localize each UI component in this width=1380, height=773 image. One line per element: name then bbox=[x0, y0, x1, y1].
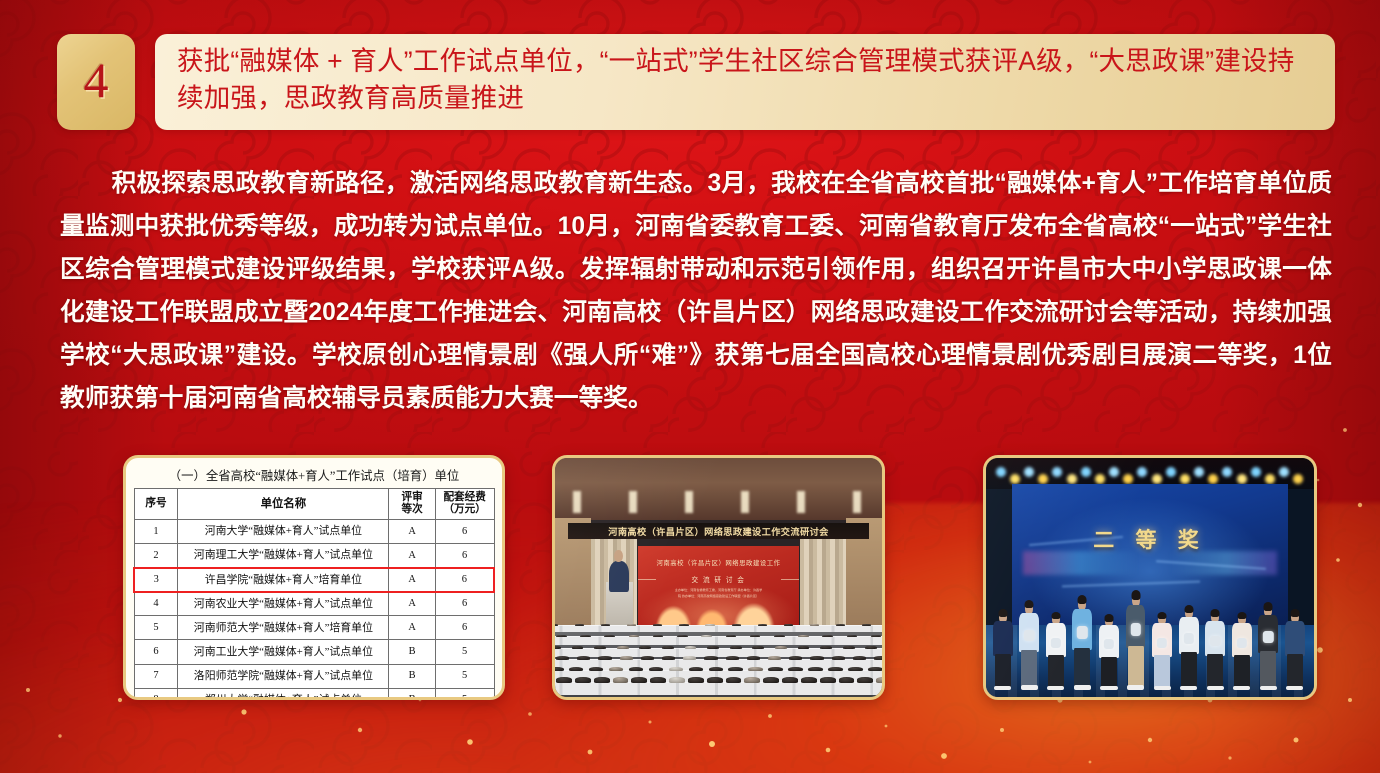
table-cell-no: 6 bbox=[134, 640, 178, 664]
ceiling-lights bbox=[555, 491, 882, 513]
person-legs bbox=[1074, 648, 1090, 687]
award-recipient bbox=[1257, 604, 1281, 690]
stage-lamp bbox=[1279, 467, 1289, 477]
stage-lamp bbox=[1109, 467, 1119, 477]
section-number: 4 bbox=[84, 55, 109, 109]
person-legs bbox=[1234, 655, 1250, 687]
person-hair bbox=[1051, 612, 1060, 620]
stage-lights bbox=[993, 465, 1308, 484]
audience-head bbox=[752, 646, 764, 649]
audience-head bbox=[707, 646, 719, 649]
award-recipient bbox=[1044, 613, 1068, 689]
stage-lamp bbox=[1293, 474, 1303, 484]
audience-head bbox=[810, 624, 819, 626]
stage-lamp bbox=[1067, 474, 1077, 484]
audience-head bbox=[577, 656, 590, 660]
audience-head bbox=[732, 624, 741, 626]
stage-lamp bbox=[1208, 474, 1218, 484]
audience-head bbox=[688, 677, 704, 682]
award-photo: 二 等 奖 bbox=[986, 458, 1314, 697]
audience-head bbox=[862, 624, 871, 626]
stage-lamp bbox=[1265, 474, 1275, 484]
audience-head bbox=[748, 667, 763, 671]
person-hair bbox=[1237, 612, 1246, 620]
person-legs bbox=[1154, 655, 1170, 687]
audience-head bbox=[730, 646, 742, 649]
audience-heads bbox=[555, 645, 882, 649]
audience-head bbox=[758, 624, 767, 626]
person-legs bbox=[1181, 652, 1197, 687]
stage-lamp bbox=[1237, 474, 1247, 484]
audience-head bbox=[808, 667, 823, 671]
audience-head bbox=[609, 667, 624, 671]
table-cell-name: 洛阳师范学院“融媒体+育人”试点单位 bbox=[178, 664, 389, 688]
person-hair bbox=[1131, 590, 1140, 600]
table-header-funding: 配套经费 （万元） bbox=[435, 489, 494, 520]
table-cell-grade: A bbox=[389, 568, 435, 592]
table-cell-grade: B bbox=[389, 688, 435, 700]
audience-heads bbox=[555, 666, 882, 671]
audience-head bbox=[836, 624, 845, 626]
audience-head bbox=[857, 677, 873, 682]
person-legs bbox=[1287, 654, 1303, 687]
person-shoes bbox=[1233, 686, 1250, 690]
units-table: 序号 单位名称 评审 等次 配套经费 （万元） 1河南大学“融媒体+育人”试点单… bbox=[133, 488, 495, 700]
audience-head bbox=[594, 646, 606, 649]
audience-head bbox=[707, 677, 723, 682]
trophy-plaque bbox=[1077, 626, 1087, 638]
audience-head bbox=[828, 667, 843, 671]
stage-screen: 河南高校（许昌片区）网络思政建设工作 交 流 研 讨 会 主办单位：河南省委教育… bbox=[638, 546, 798, 628]
audience-head bbox=[768, 656, 781, 660]
stage-lamp bbox=[1222, 467, 1232, 477]
stage-lamp bbox=[996, 467, 1006, 477]
table-cell-grade: B bbox=[389, 640, 435, 664]
audience-head bbox=[555, 667, 564, 671]
audience-head bbox=[631, 677, 647, 682]
person-shoes bbox=[1207, 686, 1224, 690]
stage-lamp bbox=[1152, 474, 1162, 484]
audience-head bbox=[589, 667, 604, 671]
table-cell-no: 4 bbox=[134, 592, 178, 616]
award-recipients-group bbox=[986, 570, 1314, 690]
audience-head bbox=[569, 667, 584, 671]
audience-head bbox=[728, 667, 743, 671]
audience-head bbox=[775, 646, 787, 649]
stage-lamp bbox=[1081, 467, 1091, 477]
trophy-plaque bbox=[1104, 639, 1114, 649]
audience-head bbox=[847, 635, 858, 637]
person-legs bbox=[995, 654, 1011, 687]
person-shoes bbox=[994, 686, 1011, 690]
audience-head bbox=[782, 677, 798, 682]
audience-head bbox=[601, 624, 610, 626]
audience-head bbox=[704, 656, 717, 660]
person-hair bbox=[1211, 609, 1220, 617]
audience-head bbox=[669, 677, 685, 682]
person-shoes bbox=[1074, 685, 1091, 690]
award-title-text: 二 等 奖 bbox=[1012, 524, 1288, 554]
person-shoes bbox=[1180, 686, 1197, 690]
audience-head bbox=[750, 635, 761, 637]
table-header-grade: 评审 等次 bbox=[389, 489, 435, 520]
audience-head bbox=[822, 635, 833, 637]
audience-head bbox=[620, 656, 633, 660]
table-cell-name: 河南师范大学“融媒体+育人”培育单位 bbox=[178, 616, 389, 640]
table-cell-name: 河南理工大学“融媒体+育人”试点单位 bbox=[178, 544, 389, 568]
table-cell-no: 8 bbox=[134, 688, 178, 700]
led-banner-text: 河南高校（许昌片区）网络思政建设工作交流研讨会 bbox=[608, 524, 829, 538]
table-cell-grade: A bbox=[389, 592, 435, 616]
conference-photo: 河南高校（许昌片区）网络思政建设工作交流研讨会 河南高校（许昌片区）网络思政建设… bbox=[555, 458, 882, 697]
audience-head bbox=[874, 656, 882, 660]
audience-head bbox=[876, 677, 882, 682]
award-recipient bbox=[1097, 616, 1121, 690]
led-banner: 河南高校（许昌片区）网络思政建设工作交流研讨会 bbox=[568, 523, 869, 540]
audience-head bbox=[788, 667, 803, 671]
audience-head bbox=[810, 656, 823, 660]
audience-head bbox=[774, 635, 785, 637]
trophy-plaque bbox=[1184, 633, 1194, 644]
person-hair bbox=[1290, 609, 1299, 617]
header-text-line1: 配套经费 bbox=[443, 492, 485, 503]
audience-heads bbox=[555, 677, 882, 683]
person-hair bbox=[1078, 595, 1087, 604]
audience-head bbox=[843, 646, 855, 649]
audience-head bbox=[649, 667, 664, 671]
section-title-bar: 获批“融媒体 + 育人”工作试点单位，“一站式”学生社区综合管理模式获评A级，“… bbox=[155, 34, 1335, 130]
audience-head bbox=[832, 656, 845, 660]
audience-head bbox=[613, 677, 629, 682]
audience-head bbox=[575, 677, 591, 682]
audience-head bbox=[839, 677, 855, 682]
person-legs bbox=[1128, 646, 1144, 687]
audience-head bbox=[868, 667, 882, 671]
audience-head bbox=[848, 667, 863, 671]
person-legs bbox=[1101, 657, 1117, 688]
audience-head bbox=[709, 667, 724, 671]
audience-head bbox=[798, 635, 809, 637]
person-shoes bbox=[1021, 685, 1038, 689]
person-legs bbox=[1260, 651, 1276, 687]
header-text-line1: 评审 bbox=[402, 492, 423, 503]
audience-head bbox=[617, 646, 629, 649]
audience-head bbox=[871, 635, 882, 637]
table-cell-funding: 5 bbox=[435, 688, 494, 700]
header-text: 单位名称 bbox=[261, 498, 307, 510]
audience-head bbox=[677, 635, 688, 637]
person-torso bbox=[1285, 621, 1305, 656]
audience-head bbox=[798, 646, 810, 649]
audience-head bbox=[820, 677, 836, 682]
table-cell-funding: 6 bbox=[435, 592, 494, 616]
audience-head bbox=[653, 635, 664, 637]
section-number-badge: 4 bbox=[57, 34, 135, 130]
award-recipient bbox=[1071, 597, 1095, 690]
stage-lamp bbox=[1194, 467, 1204, 477]
table-cell-funding: 6 bbox=[435, 520, 494, 544]
trophy-plaque bbox=[1210, 636, 1220, 646]
audience-head bbox=[580, 635, 591, 637]
audience-head bbox=[604, 635, 615, 637]
award-recipient bbox=[1177, 606, 1201, 690]
table-cell-grade: A bbox=[389, 520, 435, 544]
audience-head bbox=[701, 635, 712, 637]
table-cell-grade: A bbox=[389, 616, 435, 640]
header-text: 序号 bbox=[145, 498, 166, 509]
audience-head bbox=[662, 646, 674, 649]
table-row: 2河南理工大学“融媒体+育人”试点单位A6 bbox=[134, 544, 494, 568]
award-recipient bbox=[1283, 611, 1307, 690]
person-legs bbox=[1048, 655, 1064, 687]
seat-row bbox=[555, 625, 882, 632]
person-legs bbox=[1021, 650, 1037, 687]
audience-head bbox=[594, 677, 610, 682]
speaker-person bbox=[609, 561, 629, 592]
award-recipient bbox=[991, 611, 1015, 690]
table-row: 5河南师范大学“融媒体+育人”培育单位A6 bbox=[134, 616, 494, 640]
table-cell-name: 河南农业大学“融媒体+育人”试点单位 bbox=[178, 592, 389, 616]
table-cell-name: 河南工业大学“融媒体+育人”试点单位 bbox=[178, 640, 389, 664]
person-shoes bbox=[1100, 686, 1117, 690]
audience-head bbox=[629, 635, 640, 637]
person-hair bbox=[1105, 614, 1114, 621]
person-shoes bbox=[1286, 686, 1303, 690]
audience-head bbox=[653, 624, 662, 626]
audience-head bbox=[556, 635, 567, 637]
trophy-plaque bbox=[1024, 630, 1034, 641]
person-torso bbox=[993, 621, 1013, 656]
trophy-plaque bbox=[1237, 638, 1247, 648]
stage-lamp bbox=[1038, 474, 1048, 484]
table-cell-no: 5 bbox=[134, 616, 178, 640]
table-cell-funding: 5 bbox=[435, 664, 494, 688]
stage-lamp bbox=[1166, 467, 1176, 477]
person-shoes bbox=[1047, 686, 1064, 690]
table-cell-no: 1 bbox=[134, 520, 178, 544]
content-cards-row: （一）全省高校“融媒体+育人”工作试点（培育）单位 序号 单位名称 评审 等次 … bbox=[0, 455, 1380, 705]
audience-head bbox=[662, 656, 675, 660]
section-header: 4 获批“融媒体 + 育人”工作试点单位，“一站式”学生社区综合管理模式获评A级… bbox=[57, 34, 1335, 130]
award-photo-card: 二 等 奖 bbox=[983, 455, 1317, 700]
audience-head bbox=[763, 677, 779, 682]
table-cell-funding: 6 bbox=[435, 544, 494, 568]
trophy-plaque bbox=[1051, 638, 1061, 648]
table-header-name: 单位名称 bbox=[178, 489, 389, 520]
audience-head bbox=[555, 646, 561, 649]
table-cell-name: 许昌学院“融媒体+育人”培育单位 bbox=[178, 568, 389, 592]
header-text-line2: 等次 bbox=[402, 504, 423, 515]
table-cell-no: 3 bbox=[134, 568, 178, 592]
table-row: 4河南农业大学“融媒体+育人”试点单位A6 bbox=[134, 592, 494, 616]
audience-head bbox=[575, 624, 584, 626]
seat-row bbox=[555, 636, 882, 644]
audience-head bbox=[555, 624, 558, 626]
audience-head bbox=[679, 624, 688, 626]
person-hair bbox=[1025, 600, 1034, 609]
audience-head bbox=[820, 646, 832, 649]
table-cell-funding: 6 bbox=[435, 568, 494, 592]
table-cell-no: 2 bbox=[134, 544, 178, 568]
audience-head bbox=[747, 656, 760, 660]
page-title: 获批“融媒体 + 育人”工作试点单位，“一站式”学生社区综合管理模式获评A级，“… bbox=[177, 43, 1313, 116]
trophy-plaque bbox=[1130, 623, 1140, 636]
body-paragraph: 积极探索思政教育新路径，激活网络思政教育新生态。3月，我校在全省高校首批“融媒体… bbox=[60, 163, 1332, 420]
stage-lamp bbox=[1095, 474, 1105, 484]
table-cell-grade: A bbox=[389, 544, 435, 568]
table-cell-funding: 6 bbox=[435, 616, 494, 640]
stage-lamp bbox=[1180, 474, 1190, 484]
award-recipient bbox=[1017, 601, 1041, 689]
audience-head bbox=[689, 667, 704, 671]
stage-lamp bbox=[1010, 474, 1020, 484]
person-hair bbox=[1184, 605, 1193, 613]
person-legs bbox=[1207, 654, 1223, 687]
audience-head bbox=[641, 656, 654, 660]
audience-head bbox=[556, 677, 572, 682]
audience-head bbox=[768, 667, 783, 671]
audience-heads bbox=[555, 634, 882, 637]
audience-head bbox=[853, 656, 866, 660]
table-header-no: 序号 bbox=[134, 489, 178, 520]
stage-lamp bbox=[1052, 467, 1062, 477]
award-recipient bbox=[1203, 611, 1227, 690]
audience-head bbox=[683, 656, 696, 660]
table-cell-funding: 5 bbox=[435, 640, 494, 664]
person-hair bbox=[1158, 612, 1167, 620]
audience-head bbox=[629, 667, 644, 671]
person-hair bbox=[1264, 602, 1273, 611]
table-row: 8郑州大学“融媒体+育人”试点单位B5 bbox=[134, 688, 494, 700]
audience-head bbox=[556, 656, 569, 660]
audience-head bbox=[726, 656, 739, 660]
screen-title: 河南高校（许昌片区）网络思政建设工作 bbox=[648, 558, 789, 567]
screen-subtitle: 交 流 研 讨 会 bbox=[661, 574, 776, 584]
audience-head bbox=[784, 624, 793, 626]
audience-head bbox=[801, 677, 817, 682]
audience-head bbox=[744, 677, 760, 682]
stage-lamp bbox=[1137, 467, 1147, 477]
audience-seat-rows bbox=[555, 621, 882, 697]
table-row: 3许昌学院“融媒体+育人”培育单位A6 bbox=[134, 568, 494, 592]
seat-row bbox=[555, 682, 882, 696]
person-shoes bbox=[1260, 686, 1277, 690]
audience-head bbox=[669, 667, 684, 671]
audience-head bbox=[865, 646, 877, 649]
table-card: （一）全省高校“融媒体+育人”工作试点（培育）单位 序号 单位名称 评审 等次 … bbox=[123, 455, 505, 700]
stage-lamp bbox=[1024, 467, 1034, 477]
audience-head bbox=[789, 656, 802, 660]
award-recipient bbox=[1150, 613, 1174, 689]
trophy-plaque bbox=[1157, 638, 1167, 648]
person-shoes bbox=[1127, 685, 1144, 690]
person-hair bbox=[998, 609, 1007, 617]
audience-head bbox=[705, 624, 714, 626]
table-caption: （一）全省高校“融媒体+育人”工作试点（培育）单位 bbox=[133, 464, 495, 488]
audience-head bbox=[627, 624, 636, 626]
table-row: 1河南大学“融媒体+育人”试点单位A6 bbox=[134, 520, 494, 544]
audience-head bbox=[639, 646, 651, 649]
table-cell-grade: B bbox=[389, 664, 435, 688]
audience-heads bbox=[555, 655, 882, 660]
conference-photo-card: 河南高校（许昌片区）网络思政建设工作交流研讨会 河南高校（许昌片区）网络思政建设… bbox=[552, 455, 885, 700]
audience-head bbox=[572, 646, 584, 649]
audience-heads bbox=[555, 623, 882, 626]
audience-head bbox=[598, 656, 611, 660]
table-header-row: 序号 单位名称 评审 等次 配套经费 （万元） bbox=[134, 489, 494, 520]
units-table-body: 1河南大学“融媒体+育人”试点单位A62河南理工大学“融媒体+育人”试点单位A6… bbox=[134, 520, 494, 701]
table-cell-name: 郑州大学“融媒体+育人”试点单位 bbox=[178, 688, 389, 700]
header-text-line2: （万元） bbox=[443, 504, 485, 515]
audience-head bbox=[650, 677, 666, 682]
person-shoes bbox=[1154, 686, 1171, 690]
screen-fine-print: 主办单位：河南省委教育工委、河南省教育厅 承办单位：许昌学院 协办单位：河南高校… bbox=[674, 588, 764, 600]
audience-head bbox=[685, 646, 697, 649]
award-recipient bbox=[1124, 592, 1148, 690]
audience-head bbox=[726, 635, 737, 637]
award-recipient bbox=[1230, 613, 1254, 689]
audience-head bbox=[726, 677, 742, 682]
trophy-plaque bbox=[1263, 631, 1273, 642]
table-row: 6河南工业大学“融媒体+育人”试点单位B5 bbox=[134, 640, 494, 664]
table-cell-name: 河南大学“融媒体+育人”试点单位 bbox=[178, 520, 389, 544]
table-cell-no: 7 bbox=[134, 664, 178, 688]
table-row: 7洛阳师范学院“融媒体+育人”试点单位B5 bbox=[134, 664, 494, 688]
stage-lamp bbox=[1123, 474, 1133, 484]
stage-lamp bbox=[1251, 467, 1261, 477]
